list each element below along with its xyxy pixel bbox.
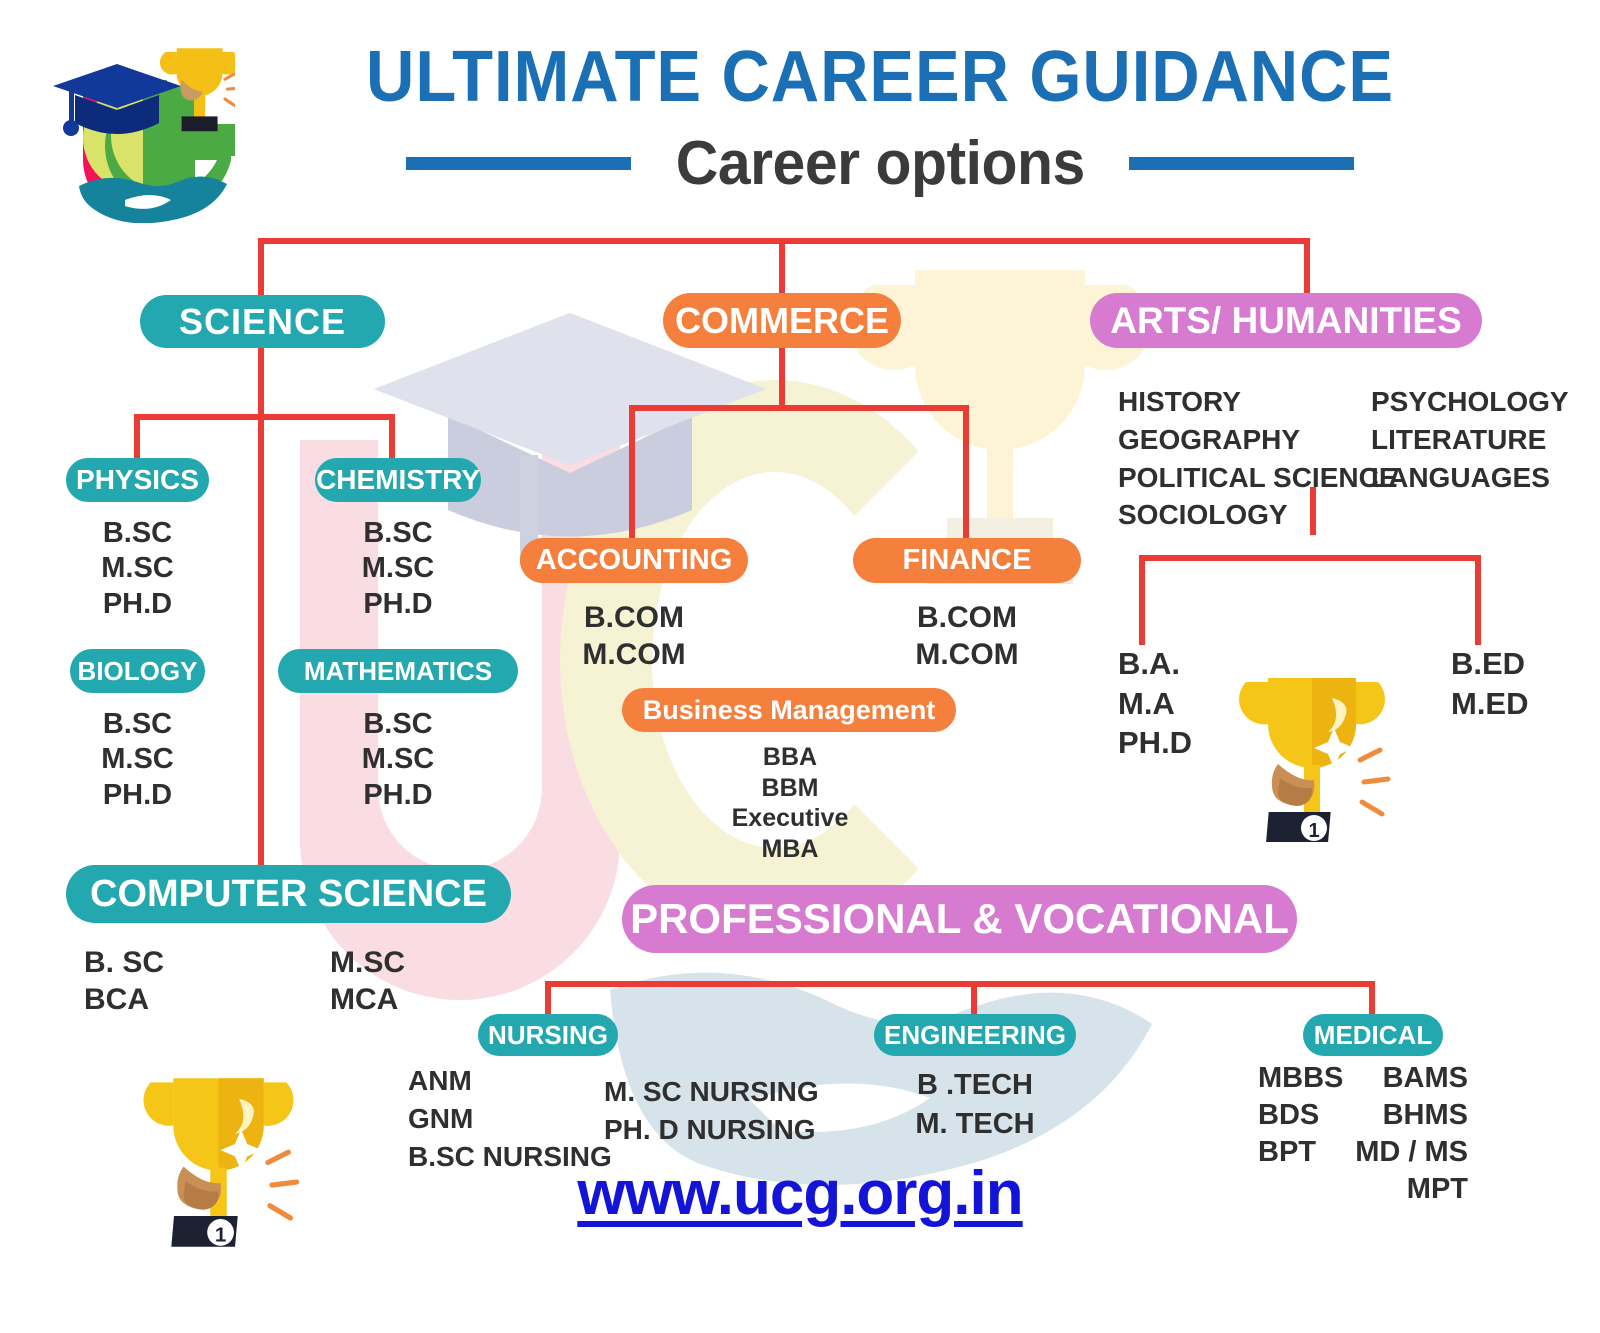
website-url[interactable]: www.ucg.org.in <box>0 1158 1600 1229</box>
connector-top-arts <box>1304 238 1310 300</box>
subject-item: LITERATURE <box>1371 421 1569 459</box>
subtitle-row: Career options <box>255 128 1505 199</box>
branch-professional-vocational[interactable]: PROFESSIONAL & VOCATIONAL <box>622 885 1297 953</box>
business-management-courses: BBA BBM Executive MBA <box>660 742 920 864</box>
course-item: B. SC <box>84 945 164 982</box>
engineering-courses: B .TECH M. TECH <box>874 1066 1076 1144</box>
node-computer-science[interactable]: COMPUTER SCIENCE <box>66 865 511 923</box>
connector-ba <box>1139 555 1145 645</box>
course-item: PH.D <box>318 778 478 813</box>
subject-item: SOCIOLOGY <box>1118 496 1398 534</box>
course-item: B.COM <box>520 600 748 637</box>
course-item: M.SC <box>66 551 209 586</box>
biology-courses: B.SC M.SC PH.D <box>66 707 209 813</box>
connector-commerce-stem <box>779 348 785 407</box>
subject-item: POLITICAL SCIENCE <box>1118 459 1398 497</box>
course-item: PH.D <box>66 778 209 813</box>
course-item: B.SC <box>315 516 481 551</box>
course-item: PH.D <box>315 587 481 622</box>
course-item: M.SC <box>330 945 405 982</box>
node-chemistry[interactable]: CHEMISTRY <box>315 458 481 502</box>
course-item: B.SC <box>66 516 209 551</box>
connector-top-science <box>258 238 264 300</box>
node-biology[interactable]: BIOLOGY <box>70 649 205 693</box>
mathematics-courses: B.SC M.SC PH.D <box>318 707 478 813</box>
course-item: BBA <box>660 742 920 773</box>
trophy-watermark <box>855 230 1145 660</box>
accounting-courses: B.COM M.COM <box>520 600 748 673</box>
course-item: M.A <box>1118 684 1192 724</box>
course-item: BBM <box>660 773 920 804</box>
node-nursing[interactable]: NURSING <box>478 1014 618 1056</box>
node-business-management[interactable]: Business Management <box>622 688 956 732</box>
branch-commerce[interactable]: COMMERCE <box>663 293 901 348</box>
course-item: M. SC NURSING <box>604 1073 819 1111</box>
course-item: BHMS <box>1310 1097 1468 1134</box>
ucg-logo <box>45 28 235 223</box>
arts-subjects-left: HISTORY GEOGRAPHY POLITICAL SCIENCE SOCI… <box>1118 383 1398 534</box>
arts-subjects-right: PSYCHOLOGY LITERATURE LANGUAGES <box>1371 383 1569 496</box>
course-item: BAMS <box>1310 1060 1468 1097</box>
finance-courses: B.COM M.COM <box>853 600 1081 673</box>
connector-science-split <box>134 414 395 420</box>
course-item: B.SC <box>318 707 478 742</box>
course-item: M.SC <box>318 742 478 777</box>
course-item: B.A. <box>1118 644 1192 684</box>
trophy-icon: 1 <box>1222 660 1402 860</box>
connector-physics <box>134 414 140 458</box>
page-title: ULTIMATE CAREER GUIDANCE <box>299 36 1462 118</box>
arts-degrees-right: B.ED M.ED <box>1451 644 1529 723</box>
computer-science-courses-right: M.SC MCA <box>330 945 405 1018</box>
node-mathematics[interactable]: MATHEMATICS <box>278 649 518 693</box>
connector-bed <box>1475 555 1481 645</box>
course-item: ANM <box>408 1062 612 1100</box>
subject-item: GEOGRAPHY <box>1118 421 1398 459</box>
chemistry-courses: B.SC M.SC PH.D <box>315 516 481 622</box>
course-item: M.COM <box>853 637 1081 674</box>
course-item: M.SC <box>315 551 481 586</box>
course-item: MCA <box>330 982 405 1019</box>
course-item: BCA <box>84 982 164 1019</box>
rule-left <box>406 157 631 170</box>
node-engineering[interactable]: ENGINEERING <box>874 1014 1076 1056</box>
course-item: B.ED <box>1451 644 1529 684</box>
connector-top-commerce <box>779 238 785 300</box>
rule-right <box>1129 157 1354 170</box>
branch-arts-humanities[interactable]: ARTS/ HUMANITIES <box>1090 293 1482 348</box>
course-item: M.ED <box>1451 684 1529 724</box>
connector-finance <box>963 405 969 538</box>
physics-courses: B.SC M.SC PH.D <box>66 516 209 622</box>
nursing-courses-right: M. SC NURSING PH. D NURSING <box>604 1073 819 1149</box>
arts-degrees-left: B.A. M.A PH.D <box>1118 644 1192 763</box>
infographic-canvas: ULTIMATE CAREER GUIDANCE Career options … <box>0 0 1600 1333</box>
branch-science[interactable]: SCIENCE <box>140 295 385 348</box>
course-item: B.SC <box>66 707 209 742</box>
page-subtitle: Career options <box>675 128 1084 199</box>
node-accounting[interactable]: ACCOUNTING <box>520 538 748 583</box>
course-item: B .TECH <box>874 1066 1076 1105</box>
course-item: GNM <box>408 1100 612 1138</box>
subject-item: HISTORY <box>1118 383 1398 421</box>
svg-text:1: 1 <box>1308 820 1319 842</box>
course-item: PH.D <box>66 587 209 622</box>
connector-medical <box>1369 981 1375 1018</box>
course-item: M.SC <box>66 742 209 777</box>
course-item: M. TECH <box>874 1105 1076 1144</box>
node-medical[interactable]: MEDICAL <box>1303 1014 1443 1056</box>
course-item: MBA <box>660 834 920 865</box>
connector-nursing <box>545 981 551 1018</box>
connector-professional-split <box>545 981 1375 987</box>
connector-commerce-split <box>629 405 969 411</box>
connector-chemistry <box>389 414 395 458</box>
node-finance[interactable]: FINANCE <box>853 538 1081 583</box>
computer-science-courses-left: B. SC BCA <box>84 945 164 1018</box>
subject-item: PSYCHOLOGY <box>1371 383 1569 421</box>
connector-accounting <box>629 405 635 538</box>
course-item: Executive <box>660 803 920 834</box>
connector-science-spine <box>258 348 264 883</box>
node-physics[interactable]: PHYSICS <box>66 458 209 502</box>
course-item: PH. D NURSING <box>604 1111 819 1149</box>
course-item: B.COM <box>853 600 1081 637</box>
connector-arts-stem <box>1310 487 1316 535</box>
course-item: PH.D <box>1118 723 1192 763</box>
connector-engineering <box>971 981 977 1018</box>
connector-arts-split <box>1139 555 1481 561</box>
subject-item: LANGUAGES <box>1371 459 1569 497</box>
course-item: M.COM <box>520 637 748 674</box>
